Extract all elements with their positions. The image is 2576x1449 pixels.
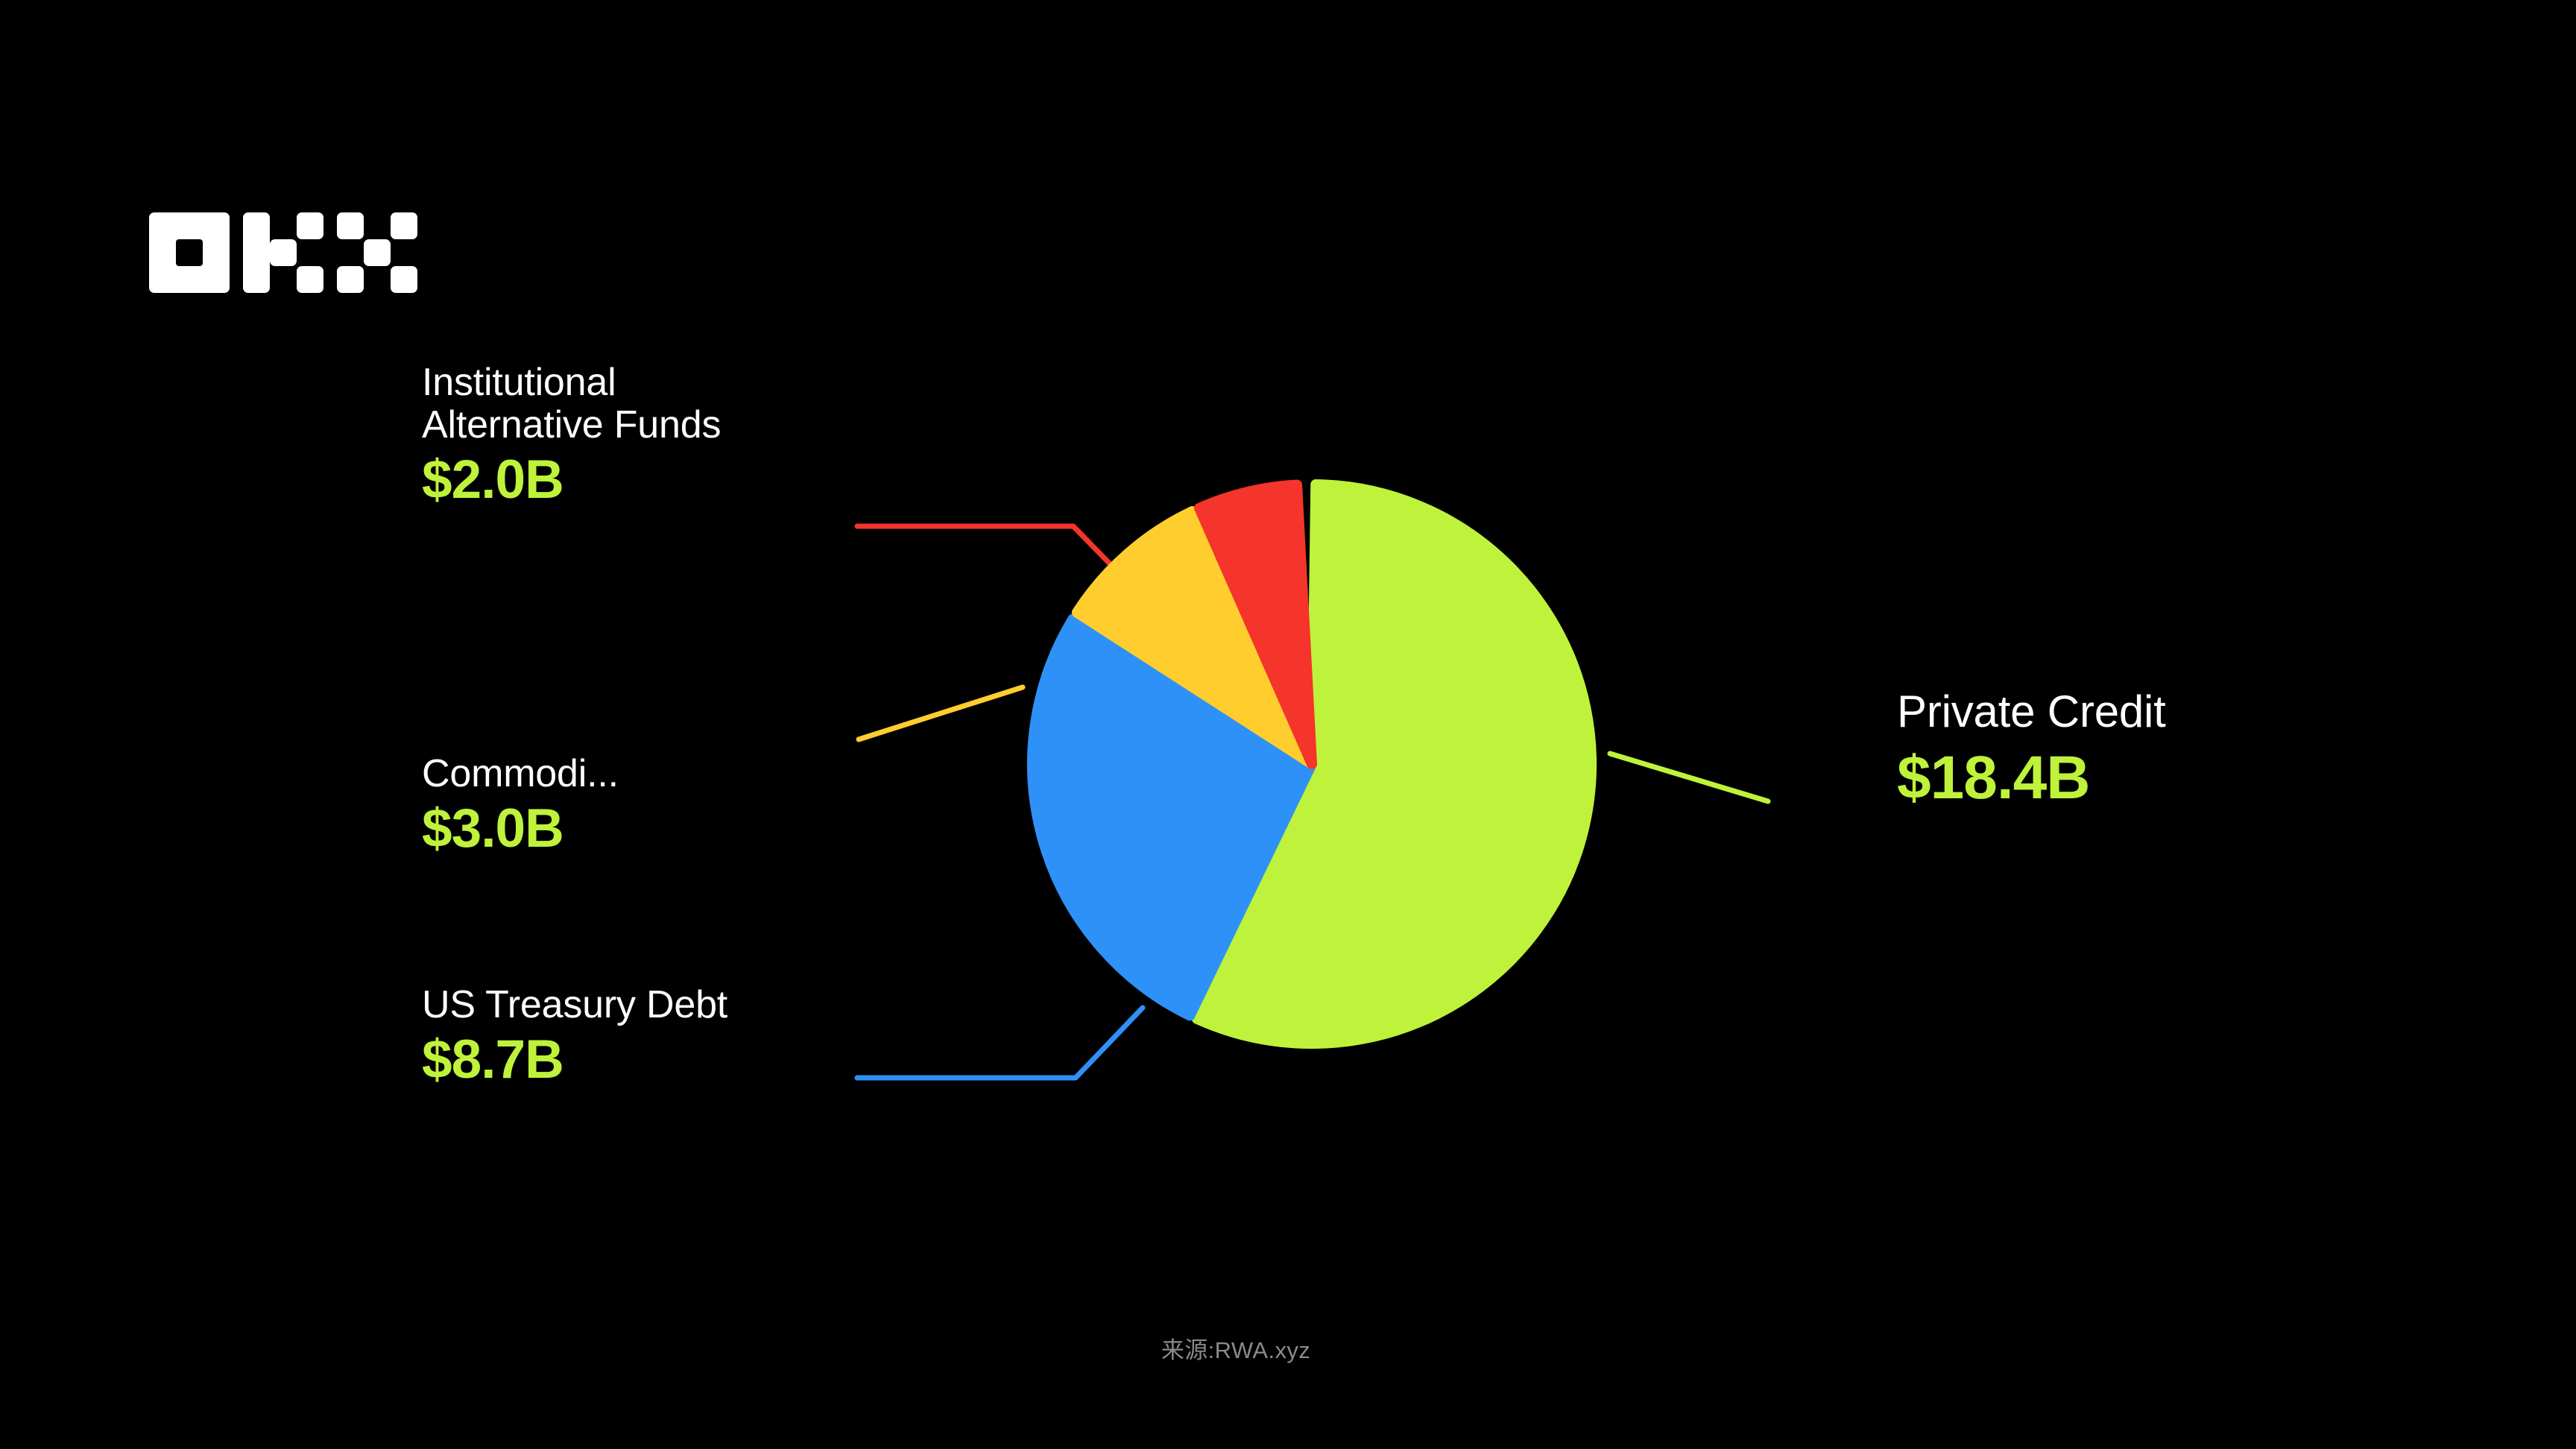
callout-us-treasury: US Treasury Debt $8.7B: [422, 984, 750, 1090]
leader-line-us-treasury: [857, 1008, 1143, 1078]
callout-value-label: $8.7B: [422, 1029, 750, 1090]
leader-line-inst-alt-funds: [857, 526, 1127, 581]
source-text: 来源:RWA.xyz: [1161, 1331, 1310, 1365]
source-note: 来源:RWA.xyz: [0, 1331, 2576, 1365]
callout-inst-alt-funds: Institutional Alternative Funds $2.0B: [422, 362, 735, 511]
callout-category-label: Commodi...: [422, 753, 735, 795]
callout-category-label: Private Credit: [1897, 686, 2255, 739]
callout-commodities: Commodi... $3.0B: [422, 753, 735, 859]
callout-private-credit: Private Credit $18.4B: [1897, 686, 2255, 813]
callout-category-label: US Treasury Debt: [422, 984, 750, 1026]
callout-value-label: $18.4B: [1897, 743, 2255, 813]
leader-line-commodities: [859, 687, 1023, 739]
pie-slice-group: [1032, 484, 1591, 1044]
slide-canvas: Institutional Alternative Funds $2.0B Co…: [0, 0, 2576, 1449]
callout-value-label: $3.0B: [422, 798, 735, 859]
leader-line-private-credit: [1610, 754, 1768, 801]
callout-category-label: Institutional Alternative Funds: [422, 362, 735, 446]
callout-value-label: $2.0B: [422, 449, 735, 511]
